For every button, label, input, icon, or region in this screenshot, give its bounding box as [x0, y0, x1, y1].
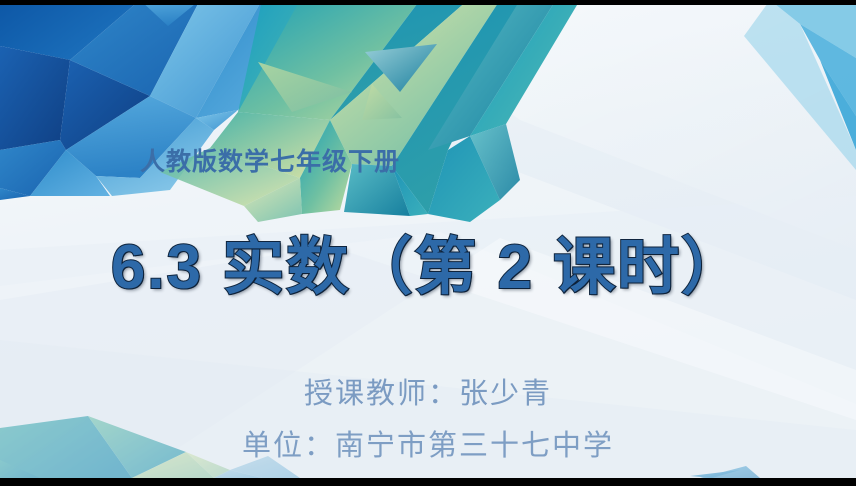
textbook-series-label: 人教版数学七年级下册 [140, 142, 400, 178]
page-title: 6.3 实数（第 2 课时） [0, 216, 856, 306]
letterbox-top-bar [0, 0, 856, 5]
letterbox-bottom-bar [0, 478, 856, 486]
slide-text-layer: 人教版数学七年级下册 6.3 实数（第 2 课时） 授课教师：张少青 单位：南宁… [0, 0, 856, 486]
school-name-line: 单位：南宁市第三十七中学 [0, 420, 856, 472]
teacher-name-line: 授课教师：张少青 [0, 368, 856, 420]
presentation-slide: 人教版数学七年级下册 6.3 实数（第 2 课时） 授课教师：张少青 单位：南宁… [0, 0, 856, 486]
presenter-info-block: 授课教师：张少青 单位：南宁市第三十七中学 [0, 368, 856, 472]
